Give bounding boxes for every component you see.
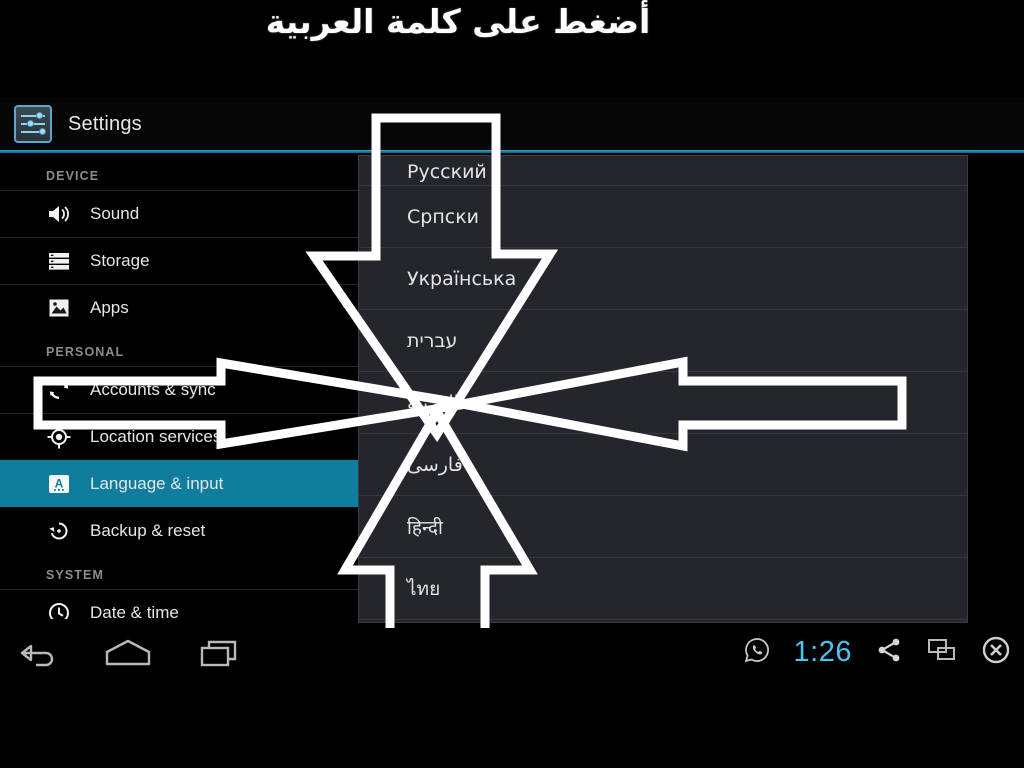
section-header-personal: PERSONAL xyxy=(0,331,358,366)
language-option-serbian[interactable]: Српски xyxy=(359,186,967,248)
status-icons: 1:26 xyxy=(742,634,1012,671)
language-option-label: ไทย xyxy=(407,574,440,604)
sidebar-item-apps[interactable]: Apps xyxy=(0,284,358,331)
screen-root: أضغط على كلمة العربية Settings DEVICE So… xyxy=(0,0,1024,768)
sidebar-item-accounts-sync[interactable]: Accounts & sync xyxy=(0,366,358,413)
language-picker-dialog[interactable]: Русский Српски Українська עברית العربية … xyxy=(358,155,968,623)
language-option-label: Русский xyxy=(407,161,487,183)
backup-restore-icon xyxy=(46,518,72,544)
close-circle-icon[interactable] xyxy=(980,634,1012,671)
sidebar-item-storage[interactable]: Storage xyxy=(0,237,358,284)
svg-text:A: A xyxy=(55,477,64,491)
sidebar-item-label: Language & input xyxy=(90,474,223,494)
home-button[interactable] xyxy=(102,636,154,675)
settings-action-bar: Settings xyxy=(0,98,1024,150)
storage-icon xyxy=(46,248,72,274)
language-option-label: العربية xyxy=(407,392,459,414)
language-option-russian[interactable]: Русский xyxy=(359,156,967,186)
language-a-icon: A xyxy=(46,471,72,497)
language-option-hebrew[interactable]: עברית xyxy=(359,310,967,372)
sidebar-item-label: Accounts & sync xyxy=(90,380,216,400)
sidebar-item-label: Apps xyxy=(90,298,129,318)
language-option-arabic[interactable]: العربية xyxy=(359,372,967,434)
settings-sliders-icon xyxy=(14,105,52,143)
clock-icon xyxy=(46,600,72,619)
sidebar-item-label: Sound xyxy=(90,204,139,224)
back-button[interactable] xyxy=(14,636,58,675)
page-title: Settings xyxy=(68,113,142,136)
language-option-hindi[interactable]: हिन्दी xyxy=(359,496,967,558)
location-crosshair-icon xyxy=(46,424,72,450)
sidebar-item-label: Location services xyxy=(90,427,221,447)
sidebar-item-backup-reset[interactable]: Backup & reset xyxy=(0,507,358,554)
instruction-headline: أضغط على كلمة العربية xyxy=(0,2,1024,41)
apps-picture-icon xyxy=(46,295,72,321)
language-option-ukrainian[interactable]: Українська xyxy=(359,248,967,310)
section-header-device: DEVICE xyxy=(0,155,358,190)
whatsapp-icon[interactable] xyxy=(742,635,772,670)
sidebar-item-label: Backup & reset xyxy=(90,521,205,541)
sidebar-item-label: Storage xyxy=(90,251,150,271)
recents-button[interactable] xyxy=(198,636,246,675)
language-option-persian[interactable]: فارسی xyxy=(359,434,967,496)
sidebar-item-label: Date & time xyxy=(90,603,179,619)
language-option-label: हिन्दी xyxy=(407,514,443,540)
sidebar-item-date-time[interactable]: Date & time xyxy=(0,589,358,619)
language-option-thai[interactable]: ไทย xyxy=(359,558,967,620)
language-option-label: Українська xyxy=(407,268,516,290)
share-icon[interactable] xyxy=(874,635,904,670)
screenshot-icon[interactable] xyxy=(926,635,958,670)
sidebar-item-sound[interactable]: Sound xyxy=(0,190,358,237)
status-clock: 1:26 xyxy=(794,636,852,669)
speaker-icon xyxy=(46,201,72,227)
section-header-system: SYSTEM xyxy=(0,554,358,589)
sidebar-item-location-services[interactable]: Location services xyxy=(0,413,358,460)
sidebar-item-language-input[interactable]: A Language & input xyxy=(0,460,358,507)
language-option-label: فارسی xyxy=(407,454,463,476)
navigation-buttons xyxy=(14,636,246,675)
android-system-bar: 1:26 xyxy=(0,628,1024,768)
action-bar-divider xyxy=(0,150,1024,153)
language-option-label: Српски xyxy=(407,206,479,228)
sync-icon xyxy=(46,377,72,403)
language-option-label: עברית xyxy=(407,330,457,352)
settings-category-list[interactable]: DEVICE Sound xyxy=(0,155,358,625)
